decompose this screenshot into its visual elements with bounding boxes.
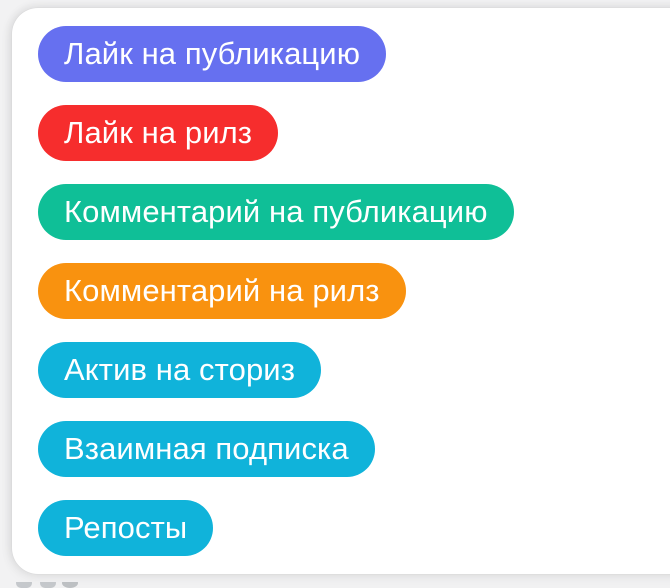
tag-pill[interactable]: Взаимная подписка [38,421,375,477]
tag-pill[interactable]: Лайк на рилз [38,105,278,161]
tag-pill-label: Репосты [64,512,187,543]
tag-pill[interactable]: Комментарий на публикацию [38,184,514,240]
tag-pill-label: Взаимная подписка [64,433,349,464]
tag-pill[interactable]: Репосты [38,500,213,556]
tag-pill[interactable]: Комментарий на рилз [38,263,406,319]
clipped-artifact-3 [62,582,78,588]
tag-pill-label: Актив на сториз [64,354,295,385]
tag-pill[interactable]: Лайк на публикацию [38,26,386,82]
screen-root: Лайк на публикациюЛайк на рилзКомментари… [0,0,670,588]
tag-pill-label: Комментарий на рилз [64,275,380,306]
tag-pill-label: Лайк на публикацию [64,38,360,69]
clipped-bottom-artifacts [0,582,670,588]
clipped-artifact-2 [40,582,56,588]
tag-pill-label: Комментарий на публикацию [64,196,488,227]
activity-tag-list: Лайк на публикациюЛайк на рилзКомментари… [38,26,658,556]
clipped-artifact-1 [16,582,32,588]
tag-pill[interactable]: Актив на сториз [38,342,321,398]
tag-pill-label: Лайк на рилз [64,117,252,148]
